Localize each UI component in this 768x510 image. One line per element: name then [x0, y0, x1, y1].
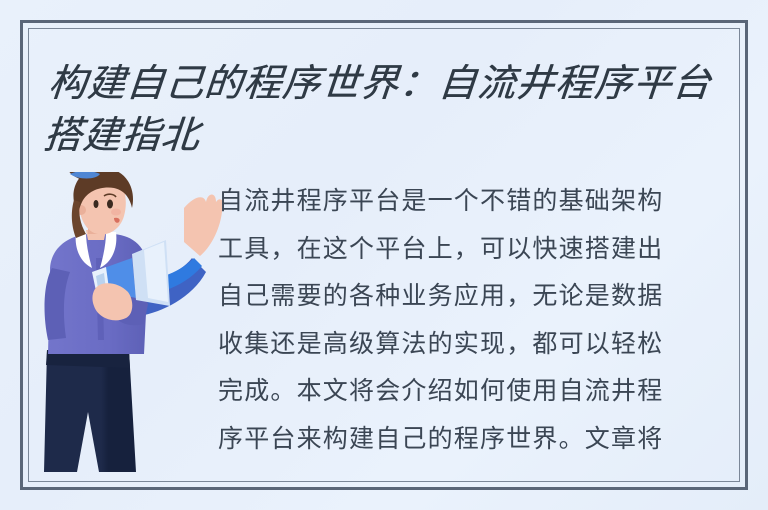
body-paragraph: 自流井程序平台是一个不错的基础架构 工具，在这个平台上，可以快速搭建出 自己需要…: [218, 178, 738, 463]
trousers-shape: [44, 350, 136, 472]
woman-with-megaphone-illustration: [44, 172, 222, 472]
body-line: 完成。本文将会介绍如何使用自流井程: [218, 368, 738, 416]
page-title: 构建自己的程序世界：自流井程序平台搭建指北: [46, 58, 736, 162]
body-line: 工具，在这个平台上，可以快速搭建出: [218, 226, 738, 274]
raised-hand-shape: [184, 195, 222, 257]
body-line: 序平台来构建自己的程序世界。文章将: [218, 416, 738, 464]
body-line: 自己需要的各种业务应用，无论是数据: [218, 273, 738, 321]
title-text: 构建自己的程序世界：自流井程序平台搭建指北: [41, 58, 740, 162]
eye: [107, 200, 113, 209]
body-line: 自流井程序平台是一个不错的基础架构: [218, 178, 738, 226]
eye: [94, 200, 99, 208]
poster-canvas: 构建自己的程序世界：自流井程序平台搭建指北 自流井程序平台是一个不错的基础架构 …: [0, 0, 768, 510]
body-line: 收集还是高级算法的实现，都可以轻松: [218, 321, 738, 369]
